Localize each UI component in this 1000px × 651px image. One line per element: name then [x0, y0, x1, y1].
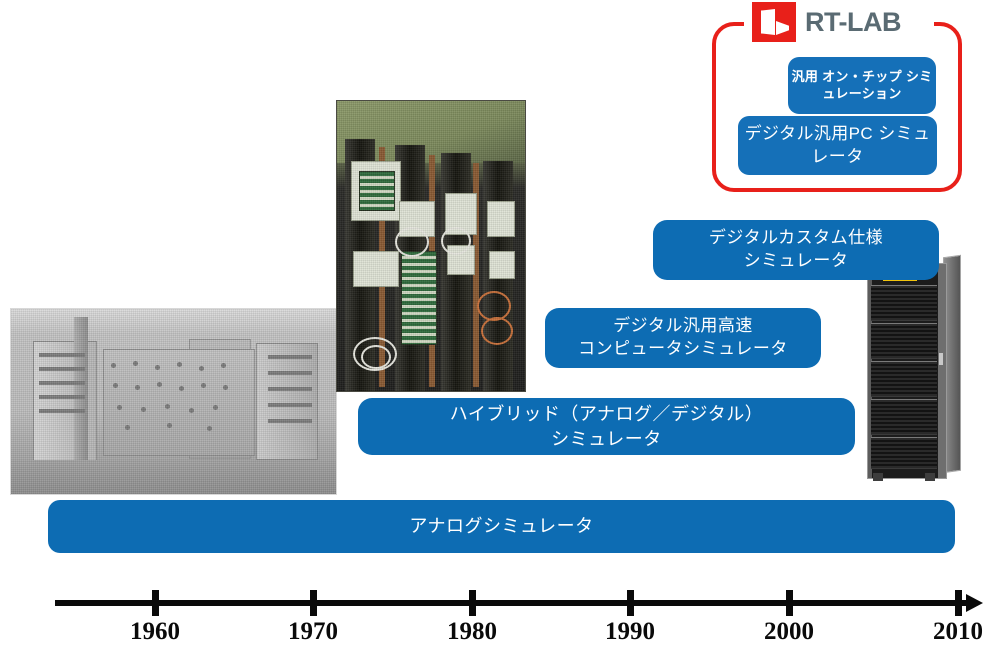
bar-custom-line-1: デジタルカスタム仕様: [709, 227, 883, 250]
timeline-tick-1990: [627, 590, 634, 616]
bar-digital-generic-pc-simulator[interactable]: デジタル汎用PC シミュレータ: [738, 116, 937, 175]
timeline-label-1960: 1960: [100, 618, 210, 646]
bar-digital-custom-simulator[interactable]: デジタルカスタム仕様 シミュレータ: [653, 220, 939, 280]
timeline-label-1970: 1970: [258, 618, 368, 646]
timeline-label-2000: 2000: [734, 618, 844, 646]
bar-hybrid-simulator[interactable]: ハイブリッド（アナログ／デジタル） シミュレータ: [358, 398, 855, 455]
timeline-label-1980: 1980: [417, 618, 527, 646]
bar-generic-on-chip-simulation[interactable]: 汎用 オン・チップ シミュレーション: [788, 57, 936, 114]
timeline-label-2010: 2010: [903, 618, 1000, 646]
timeline-tick-2000: [786, 590, 793, 616]
bar-onchip-line-2: オン・チップ: [822, 69, 902, 84]
timeline-label-1990: 1990: [575, 618, 685, 646]
bar-hybrid-line-1: ハイブリッド（アナログ／デジタル）: [450, 402, 763, 426]
photo-server-cabinet: [863, 253, 963, 481]
timeline-tick-2010: [955, 590, 962, 616]
bar-hybrid-line-2: シミュレータ: [450, 427, 763, 451]
timeline-arrowhead-icon: [966, 594, 983, 612]
photo-hybrid-equipment-racks: [336, 100, 526, 392]
rtlab-wordmark: RT-LAB: [805, 7, 901, 38]
rtlab-logo: RT-LAB: [752, 2, 901, 42]
timeline-tick-1960: [152, 590, 159, 616]
bar-custom-line-2: シミュレータ: [709, 250, 883, 273]
bar-analog-line-1: アナログシミュレータ: [409, 514, 593, 538]
photo-analog-control-room: [10, 308, 337, 495]
bar-highspeed-line-1: デジタル汎用高速: [578, 315, 788, 338]
bar-pcsim-line-1: デジタル汎用PC: [745, 124, 873, 143]
timeline-tick-1970: [310, 590, 317, 616]
bar-onchip-line-1: 汎用: [792, 69, 819, 84]
timeline-axis: [55, 600, 970, 606]
timeline-tick-1980: [469, 590, 476, 616]
bar-digital-highspeed-computer-simulator[interactable]: デジタル汎用高速 コンピュータシミュレータ: [545, 308, 821, 368]
rtlab-mark-icon: [752, 2, 796, 42]
bar-analog-simulator[interactable]: アナログシミュレータ: [48, 500, 955, 553]
timeline-diagram: アナログシミュレータ ハイブリッド（アナログ／デジタル） シミュレータ デジタル…: [0, 0, 1000, 651]
bar-highspeed-line-2: コンピュータシミュレータ: [578, 338, 788, 361]
